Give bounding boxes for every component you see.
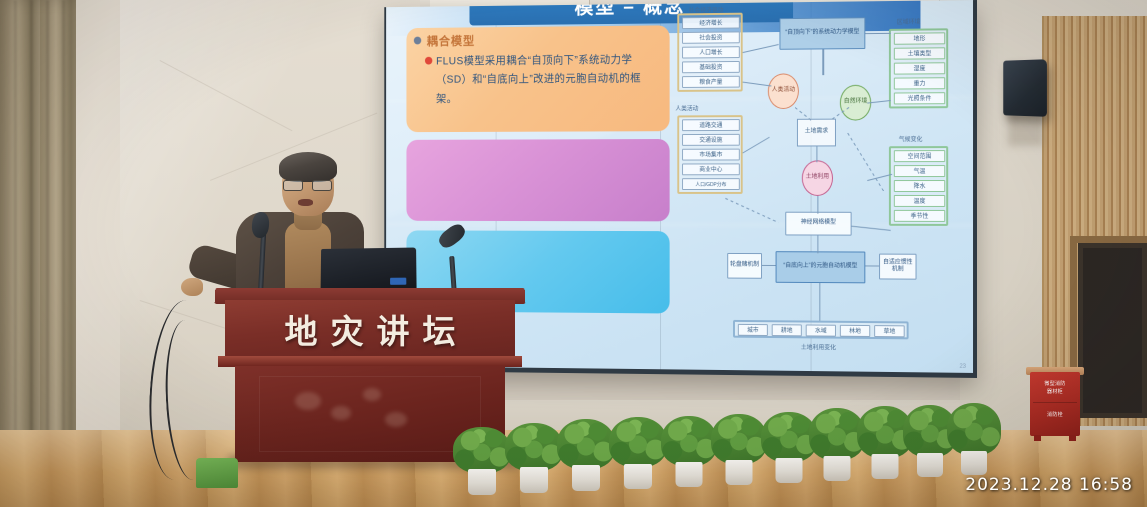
label-human-activity: 人类活动 bbox=[675, 104, 698, 113]
potted-plant bbox=[608, 419, 668, 489]
slide-page-number: 23 bbox=[959, 364, 966, 370]
dg-item: 草地 bbox=[874, 325, 905, 337]
camera-timestamp: 2023.12.28 16:58 bbox=[965, 475, 1133, 495]
dg-item: 地形 bbox=[894, 32, 945, 44]
laptop-screen bbox=[321, 247, 417, 290]
box-roulette: 轮盘赌机制 bbox=[727, 253, 762, 279]
dg-item: 耕地 bbox=[772, 324, 802, 336]
group-landuse-types: 城市 耕地 水域 林地 草地 bbox=[733, 320, 909, 339]
speaker-hair bbox=[279, 152, 337, 182]
dg-item: 经济增长 bbox=[682, 17, 740, 29]
wall-speaker-icon bbox=[1003, 59, 1047, 117]
dg-item: 光照条件 bbox=[894, 92, 945, 104]
fire-box-label-1: 微型消防 bbox=[1030, 381, 1080, 388]
dg-item: 重力 bbox=[894, 77, 945, 89]
group-regional-env: 地形 土壤类型 湿度 重力 光照条件 bbox=[889, 28, 948, 108]
podium-front-panel: 地灾讲坛 bbox=[225, 300, 515, 358]
dg-item: 人口/GDP分布 bbox=[682, 178, 740, 190]
dg-item: 季节性 bbox=[894, 210, 945, 222]
callout-body: FLUS模型采用耦合“自顶向下”系统动力学（SD）和“自底向上”改进的元胞自动机… bbox=[436, 51, 660, 109]
dg-item: 市场集市 bbox=[682, 149, 740, 161]
label-regional-env: 区域环境 bbox=[897, 17, 921, 26]
dg-item: 空间范围 bbox=[894, 150, 945, 162]
group-human-activity: 道路交通 交通设施 市场集市 商业中心 人口/GDP分布 bbox=[677, 115, 742, 194]
lecture-hall-photo: 模型 – 概念 耦合模型 FLUS模型采用耦合“自顶向下”系统动力学（SD）和“… bbox=[0, 0, 1147, 507]
potted-plant bbox=[504, 425, 564, 493]
fire-box-label-2: 器材柜 bbox=[1030, 389, 1080, 396]
label-landuse-change: 土地利用变化 bbox=[801, 342, 836, 351]
dg-item: 湿度 bbox=[894, 62, 945, 74]
speaker-hand bbox=[181, 278, 203, 296]
dg-item: 温度 bbox=[894, 195, 945, 207]
stool bbox=[196, 458, 238, 488]
node-land-demand: 土地需求 bbox=[797, 119, 836, 147]
dg-item: 商业中心 bbox=[682, 163, 740, 175]
potted-plant bbox=[946, 403, 1002, 475]
potted-plant bbox=[452, 429, 512, 495]
group-climate: 空间范围 气温 降水 温度 季节性 bbox=[889, 146, 948, 226]
label-climate-change: 气候变化 bbox=[899, 134, 923, 143]
speaker-mouth bbox=[298, 199, 313, 206]
callout-coupling-model: 耦合模型 FLUS模型采用耦合“自顶向下”系统动力学（SD）和“自底向上”改进的… bbox=[406, 25, 669, 132]
dg-item: 基础投资 bbox=[682, 61, 740, 73]
curtain bbox=[0, 0, 76, 462]
dg-item: 人口增长 bbox=[682, 46, 740, 58]
laptop-logo bbox=[390, 278, 406, 285]
box-adaptive-inertia: 自适应惯性机制 bbox=[879, 254, 916, 280]
callout-pink bbox=[406, 139, 669, 221]
box-neural-network: 神经网络模型 bbox=[785, 212, 851, 236]
callout-heading: 耦合模型 bbox=[427, 32, 475, 49]
node-human-activity: 人类活动 bbox=[768, 73, 799, 109]
dg-item: 水域 bbox=[806, 324, 836, 336]
dg-item: 土壤类型 bbox=[894, 47, 945, 59]
glasses-icon bbox=[283, 180, 333, 191]
fire-equipment-box: 微型消防 器材柜 消防栓 bbox=[1030, 372, 1080, 436]
dg-item: 降水 bbox=[894, 180, 945, 192]
dg-item: 交通设施 bbox=[682, 134, 740, 146]
dg-item: 社会投资 bbox=[682, 31, 740, 43]
potted-plant bbox=[556, 421, 616, 491]
concept-diagram: 社会经济驱动 经济增长 社会投资 人口增长 基础投资 粮食产量 人类活动 道路交… bbox=[668, 2, 972, 372]
node-landuse: 土地利用 bbox=[802, 160, 833, 196]
box-sd-model: “自顶向下”的系统动力学模型 bbox=[779, 17, 865, 50]
dg-item: 粮食产量 bbox=[682, 76, 740, 88]
dg-item: 气温 bbox=[894, 165, 945, 177]
dg-item: 道路交通 bbox=[682, 119, 740, 131]
podium-plaque: 地灾讲坛 bbox=[225, 300, 515, 358]
doorway bbox=[1078, 243, 1147, 418]
fire-box-label-3: 消防栓 bbox=[1030, 412, 1080, 419]
group-socio-economic: 经济增长 社会投资 人口增长 基础投资 粮食产量 bbox=[677, 13, 742, 92]
dg-item: 城市 bbox=[738, 324, 768, 336]
dg-item: 林地 bbox=[840, 325, 870, 337]
box-ca-model: “自底向上”的元胞自动机模型 bbox=[776, 251, 866, 283]
